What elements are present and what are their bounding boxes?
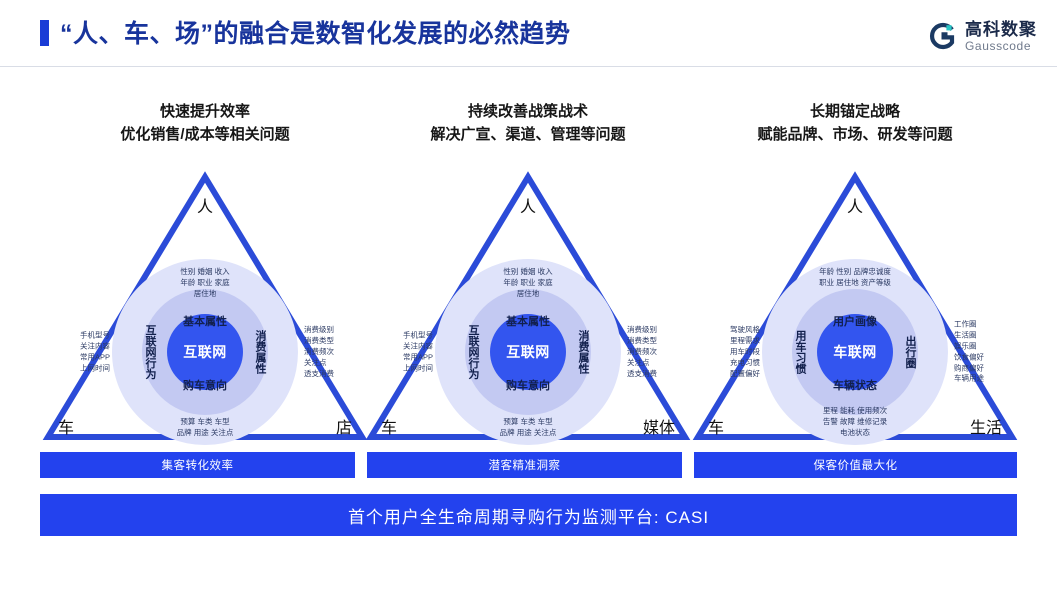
triangle-apex-label-3: 人 xyxy=(847,193,863,217)
outer-label: 电池状态 xyxy=(823,428,887,439)
sub-bar-3: 保客价值最大化 xyxy=(694,452,1017,478)
ring-diagram-1: 互联网 基本属性 购车意向 消费属性 互联网行为 性别 婚姻 收入 年龄 职业 … xyxy=(112,259,298,445)
outer-label: 性别 婚姻 收入 xyxy=(180,267,229,278)
outer-label: 品牌 用途 关注点 xyxy=(500,428,557,439)
outer-label: 透支消费 xyxy=(627,368,657,379)
outer-labels-left-2: 手机型号 关注内容 常用APP 上网时间 xyxy=(403,330,433,374)
outer-label: 工作圈 xyxy=(954,319,984,330)
outer-label: 里程需求 xyxy=(730,336,760,347)
logo-name-cn: 高科数聚 xyxy=(965,21,1037,38)
brand-logo: 高科数聚 Gausscode xyxy=(928,16,1037,56)
title-accent-bar xyxy=(40,20,49,46)
outer-label: 充电习惯 xyxy=(730,357,760,368)
outer-label: 消费频次 xyxy=(304,347,334,358)
outer-label: 居住地 xyxy=(503,289,552,300)
ring-label-bottom-3: 车辆状态 xyxy=(833,377,877,393)
triangle-apex-label-1: 人 xyxy=(197,193,213,217)
outer-labels-bottom-3: 里程 能耗 使用频次 告警 故障 维修记录 电池状态 xyxy=(823,406,887,439)
sub-bar-2: 潜客精准洞察 xyxy=(367,452,682,478)
column-heading-3-line2: 赋能品牌、市场、研发等问题 xyxy=(690,123,1020,146)
outer-label: 饮食偏好 xyxy=(954,352,984,363)
outer-label: 性别 婚姻 收入 xyxy=(503,267,552,278)
ring-label-bottom-2: 购车意向 xyxy=(506,377,550,393)
column-heading-1-line2: 优化销售/成本等相关问题 xyxy=(40,123,370,146)
outer-labels-right-2: 消费级别 消费类型 消费频次 关注点 透支消费 xyxy=(627,325,657,379)
outer-label: 消费类型 xyxy=(304,336,334,347)
outer-label: 年龄 性别 品牌忠诚度 xyxy=(819,267,891,278)
column-heading-1: 快速提升效率 优化销售/成本等相关问题 xyxy=(40,100,370,147)
column-heading-3: 长期锚定战略 赋能品牌、市场、研发等问题 xyxy=(690,100,1020,147)
outer-label: 关注点 xyxy=(304,357,334,368)
outer-label: 关注点 xyxy=(627,357,657,368)
column-heading-2-line1: 持续改善战策战术 xyxy=(468,103,588,120)
outer-label: 透支消费 xyxy=(304,368,334,379)
platform-banner: 首个用户全生命周期寻购行为监测平台: CASI xyxy=(40,494,1017,536)
triangle-corner-left-2: 车 xyxy=(381,414,397,438)
column-heading-2-line2: 解决广宣、渠道、管理等问题 xyxy=(363,123,693,146)
outer-label: 年龄 职业 家庭 xyxy=(180,278,229,289)
outer-labels-right-3: 工作圈 生活圈 娱乐圈 饮食偏好 购商偏好 车辆用途 xyxy=(954,319,984,384)
column-heading-1-line1: 快速提升效率 xyxy=(160,103,250,120)
outer-label: 常用APP xyxy=(80,352,110,363)
triangle-corner-right-1: 店 xyxy=(336,414,352,438)
outer-labels-top-3: 年龄 性别 品牌忠诚度 职业 居住地 资产等级 xyxy=(819,267,891,289)
outer-labels-top-2: 性别 婚姻 收入 年龄 职业 家庭 居住地 xyxy=(503,267,552,300)
sub-bar-1: 集客转化效率 xyxy=(40,452,355,478)
gausscode-logo-icon xyxy=(928,21,958,51)
ring-label-right-2: 消费属性 xyxy=(575,330,591,374)
ring-label-right-1: 消费属性 xyxy=(252,330,268,374)
logo-wordmark: 高科数聚 Gausscode xyxy=(965,21,1037,52)
outer-label: 职业 居住地 资产等级 xyxy=(819,278,891,289)
ring-diagram-3: 车联网 用户画像 车辆状态 出行圈 用车习惯 年龄 性别 品牌忠诚度 职业 居住… xyxy=(762,259,948,445)
outer-label: 年龄 职业 家庭 xyxy=(503,278,552,289)
outer-label: 娱乐圈 xyxy=(954,341,984,352)
triangle-panel-2: 人 车 媒体 互联网 基本属性 购车意向 消费属性 互联网行为 性别 婚姻 收入… xyxy=(363,165,693,447)
outer-label: 手机型号 xyxy=(403,330,433,341)
outer-label: 手机型号 xyxy=(80,330,110,341)
ring-label-top-1: 基本属性 xyxy=(183,313,227,329)
outer-label: 生活圈 xyxy=(954,330,984,341)
outer-label: 购商偏好 xyxy=(954,363,984,374)
ring-label-left-1: 互联网行为 xyxy=(142,325,158,380)
triangle-panel-1: 人 车 店 互联网 基本属性 购车意向 消费属性 互联网行为 性别 婚姻 收入 … xyxy=(40,165,370,447)
outer-label: 用车时段 xyxy=(730,347,760,358)
outer-label: 消费类型 xyxy=(627,336,657,347)
outer-label: 消费级别 xyxy=(627,325,657,336)
triangle-panel-3: 人 车 生活 车联网 用户画像 车辆状态 出行圈 用车习惯 年龄 性别 品牌忠诚… xyxy=(690,165,1020,447)
outer-label: 配置偏好 xyxy=(730,368,760,379)
page-title: “人、车、场”的融合是数智化发展的必然趋势 xyxy=(60,14,571,50)
outer-label: 消费频次 xyxy=(627,347,657,358)
outer-label: 常用APP xyxy=(403,352,433,363)
column-heading-3-line1: 长期锚定战略 xyxy=(810,103,900,120)
outer-labels-left-1: 手机型号 关注内容 常用APP 上网时间 xyxy=(80,330,110,374)
triangle-corner-right-2: 媒体 xyxy=(643,414,675,438)
outer-label: 上网时间 xyxy=(403,363,433,374)
ring-label-right-3: 出行圈 xyxy=(902,336,918,369)
logo-name-en: Gausscode xyxy=(965,40,1037,52)
outer-label: 居住地 xyxy=(180,289,229,300)
outer-labels-right-1: 消费级别 消费类型 消费频次 关注点 透支消费 xyxy=(304,325,334,379)
ring-label-bottom-1: 购车意向 xyxy=(183,377,227,393)
ring-core-label-1: 互联网 xyxy=(183,342,227,362)
outer-label: 品牌 用途 关注点 xyxy=(177,428,234,439)
outer-labels-left-3: 驾驶风格 里程需求 用车时段 充电习惯 配置偏好 xyxy=(730,325,760,379)
outer-label: 告警 故障 维修记录 xyxy=(823,417,887,428)
outer-label: 预算 车类 车型 xyxy=(500,417,557,428)
outer-label: 驾驶风格 xyxy=(730,325,760,336)
outer-label: 关注内容 xyxy=(80,341,110,352)
outer-label: 车辆用途 xyxy=(954,374,984,385)
triangle-corner-left-1: 车 xyxy=(58,414,74,438)
slide-canvas: “人、车、场”的融合是数智化发展的必然趋势 高科数聚 Gausscode 快速提… xyxy=(0,0,1057,589)
outer-label: 消费级别 xyxy=(304,325,334,336)
ring-label-left-2: 互联网行为 xyxy=(465,325,481,380)
ring-core-label-3: 车联网 xyxy=(833,342,877,362)
header-divider xyxy=(0,66,1057,67)
outer-label: 关注内容 xyxy=(403,341,433,352)
slide-header: “人、车、场”的融合是数智化发展的必然趋势 高科数聚 Gausscode xyxy=(0,0,1057,66)
ring-core-label-2: 互联网 xyxy=(506,342,550,362)
outer-labels-top-1: 性别 婚姻 收入 年龄 职业 家庭 居住地 xyxy=(180,267,229,300)
outer-label: 上网时间 xyxy=(80,363,110,374)
column-heading-2: 持续改善战策战术 解决广宣、渠道、管理等问题 xyxy=(363,100,693,147)
ring-label-left-3: 用车习惯 xyxy=(792,330,808,374)
outer-label: 预算 车类 车型 xyxy=(177,417,234,428)
outer-label: 里程 能耗 使用频次 xyxy=(823,406,887,417)
ring-diagram-2: 互联网 基本属性 购车意向 消费属性 互联网行为 性别 婚姻 收入 年龄 职业 … xyxy=(435,259,621,445)
outer-labels-bottom-2: 预算 车类 车型 品牌 用途 关注点 xyxy=(500,417,557,439)
triangle-apex-label-2: 人 xyxy=(520,193,536,217)
ring-label-top-3: 用户画像 xyxy=(833,313,877,329)
triangle-corner-left-3: 车 xyxy=(708,414,724,438)
ring-label-top-2: 基本属性 xyxy=(506,313,550,329)
outer-labels-bottom-1: 预算 车类 车型 品牌 用途 关注点 xyxy=(177,417,234,439)
triangle-corner-right-3: 生活 xyxy=(970,414,1002,438)
